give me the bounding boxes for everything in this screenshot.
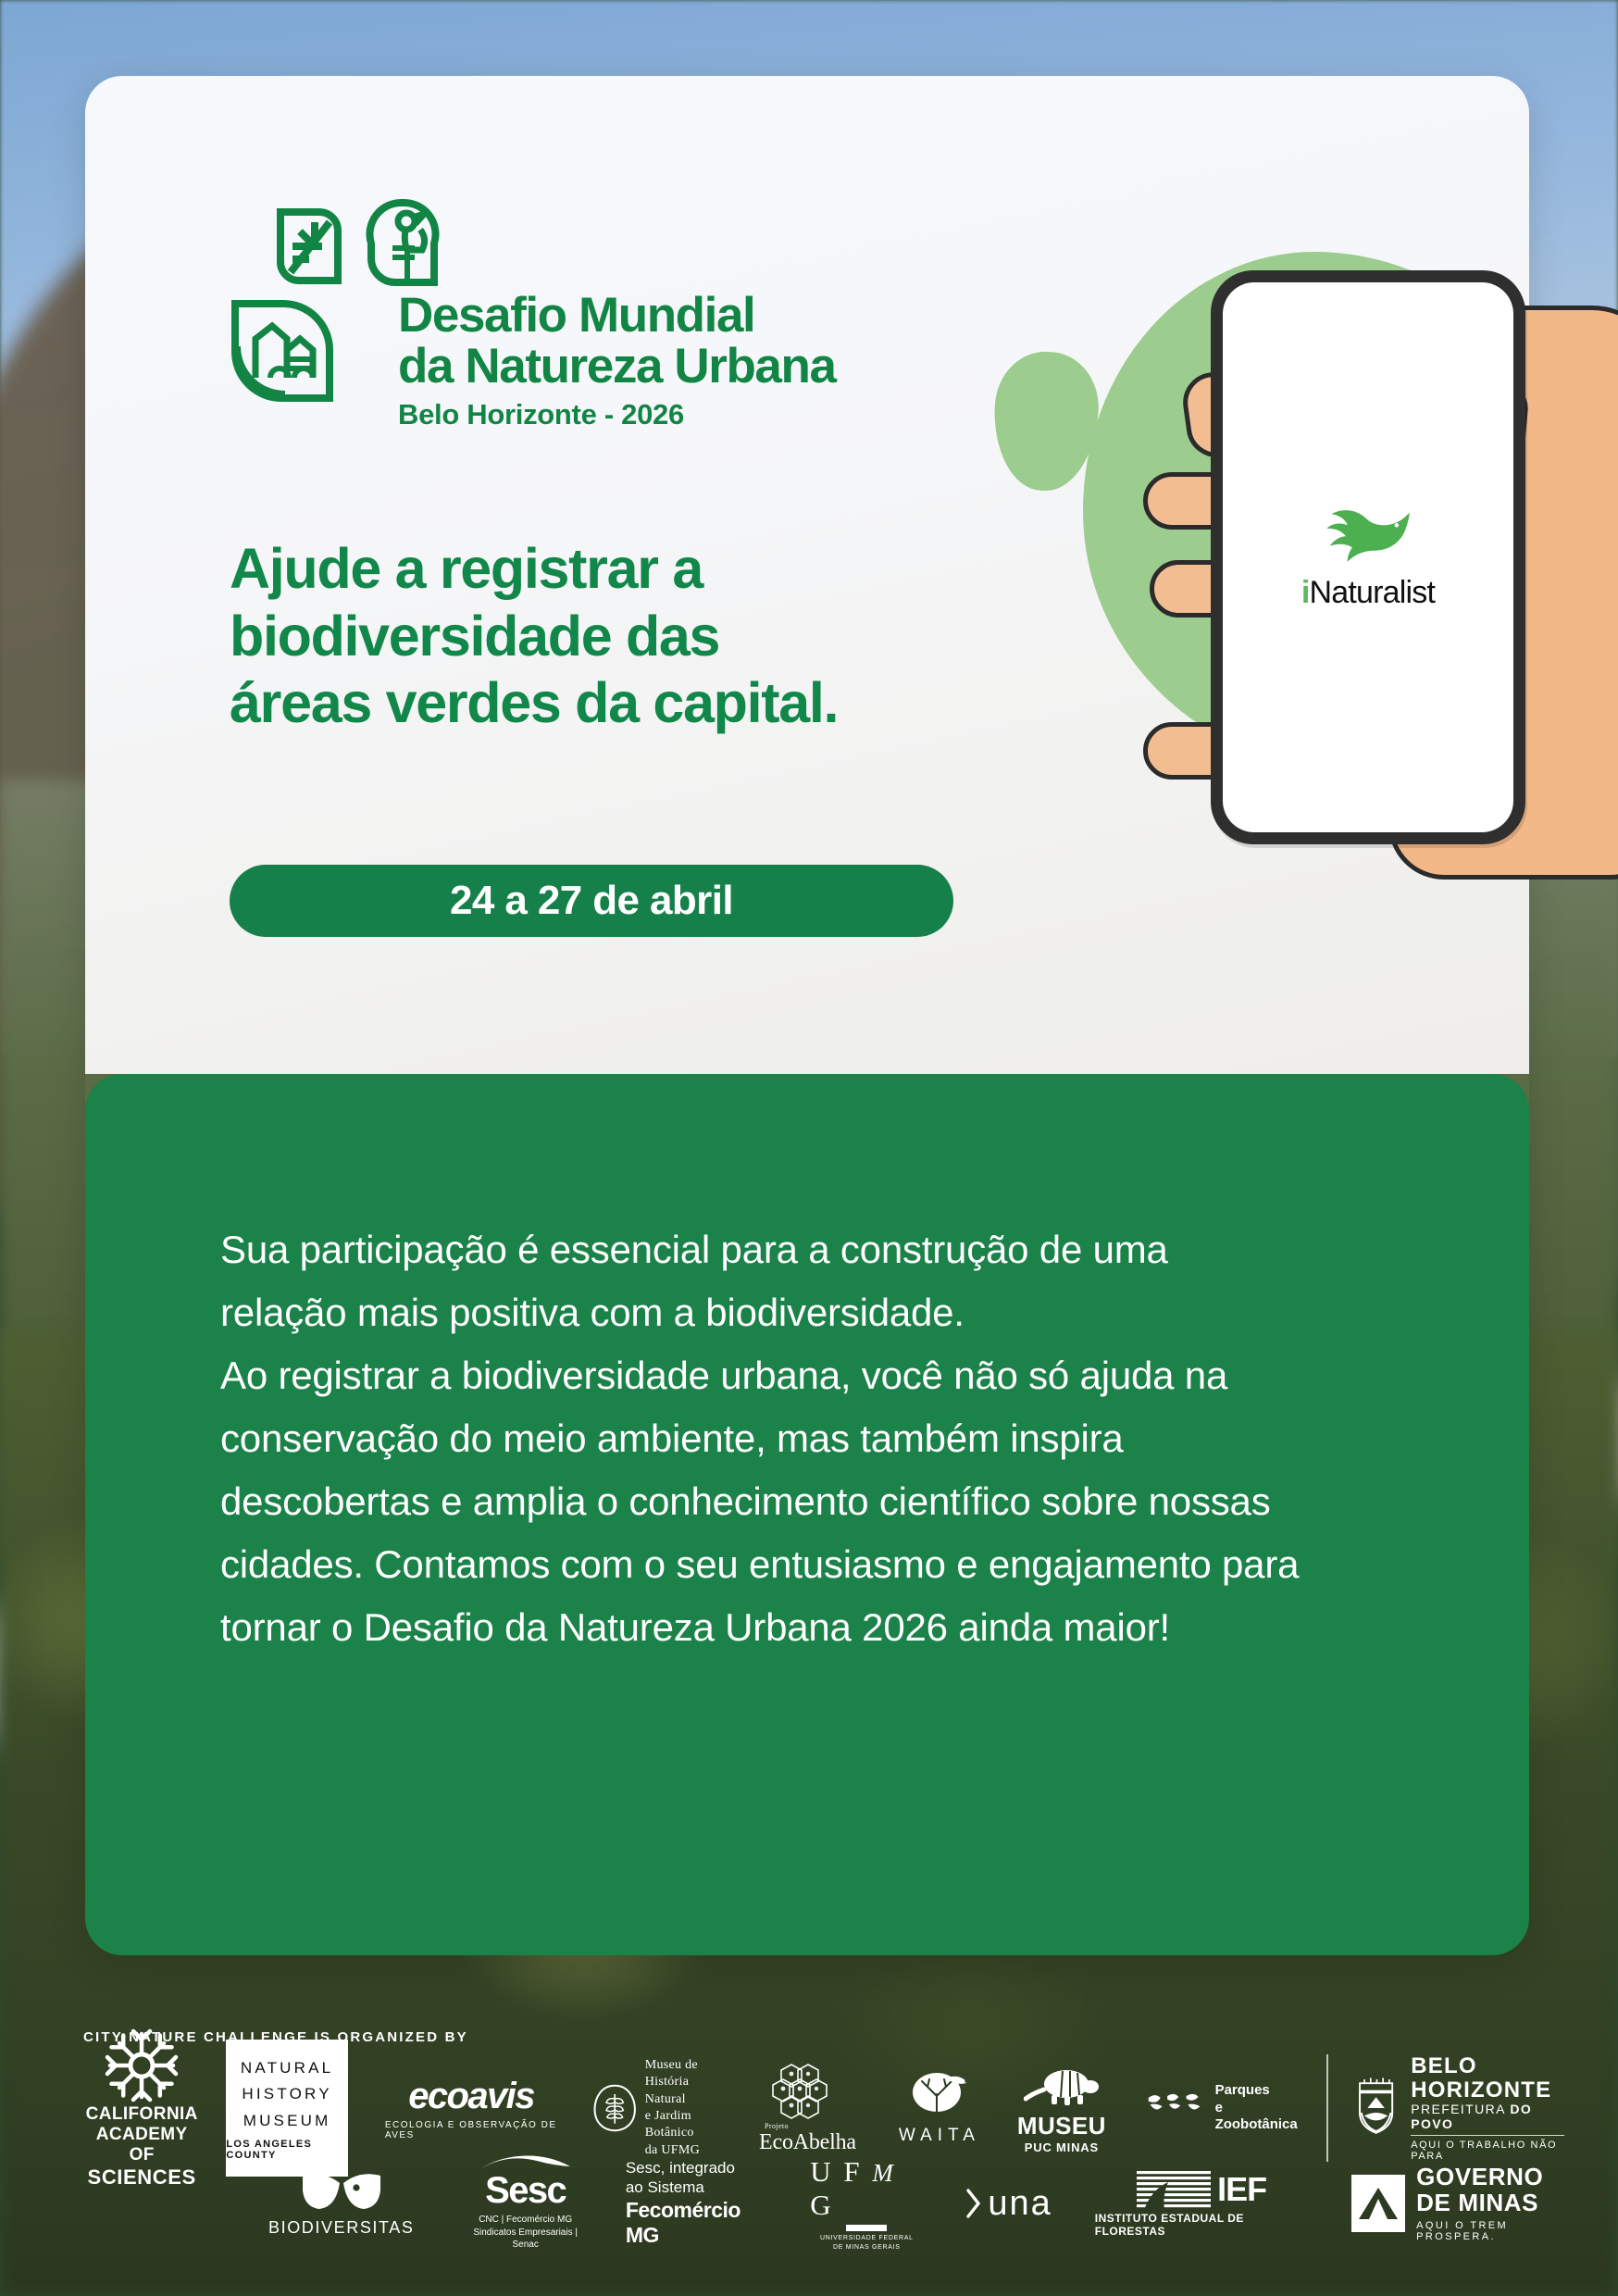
bh-coat-of-arms-icon [1350,2071,1401,2145]
waita-wordmark: WAITA [899,2126,980,2146]
pbh-line-3a: PREFEITURA [1411,2102,1510,2116]
pbh-line-2: HORIZONTE [1411,2078,1564,2102]
cal-academy-line-3: SCIENCES [88,2165,196,2189]
governo-mountain-mark [1351,2175,1406,2232]
cal-academy-line-1: CALIFORNIA [83,2104,200,2125]
event-dates-button[interactable]: 24 a 27 de abril [230,865,953,937]
sesc-sub-2: Sindicatos Empresariais | Senac [463,2227,589,2252]
logo-prefeitura-belo-horizonte: BELO HORIZONTE PREFEITURA DO POVO AQUI O… [1326,2054,1564,2161]
sesc-wordmark: Sesc [485,2170,566,2212]
smartphone-device: iNaturalist [1211,270,1525,844]
brand-subtitle: Belo Horizonte - 2026 [398,398,836,431]
ecoavis-tagline: ECOLOGIA E OBSERVAÇÃO DE AVES [385,2120,557,2140]
logo-ufmg: U F M G UNIVERSIDADE FEDERAL DE MINAS GE… [810,2155,923,2251]
logo-waita: WAITA [899,2070,980,2146]
inaturalist-i: i [1301,575,1310,610]
una-chevron-icon [964,2185,984,2222]
museu-puc-sub: PUC MINAS [1025,2140,1099,2154]
leaf-shield-icon [592,2078,637,2138]
ecoabelha-prefix: Projeto [765,2122,789,2130]
logo-parques-zoobotanica: Parques e Zoobotânica [1145,2082,1302,2134]
mhn-line-4: da UFMG [645,2142,728,2159]
brand-line-1: Desafio Mundial [398,291,836,342]
logo-museu-historia-natural-ufmg: Museu de História Natural e Jardim Botân… [592,2057,728,2160]
tree-bird-icon [905,2070,974,2124]
fecomercio-line-1: Sesc, integrado [626,2159,771,2178]
ufmg-sub-2: DE MINAS GERAIS [820,2243,914,2252]
open-book-leaf-icon [299,2170,384,2215]
phone-screen: iNaturalist [1223,282,1513,832]
ief-sub: INSTITUTO ESTADUAL DE FLORESTAS [1095,2212,1307,2238]
nhm-line-2: HISTORY [242,2081,331,2107]
mhn-line-3: e Jardim Botânico [645,2108,728,2142]
phone-in-hand-illustration: iNaturalist [953,167,1546,907]
ecoavis-wordmark: ecoavis [408,2076,534,2117]
mhn-line-1: Museu de [645,2057,728,2074]
logo-natural-history-museum: NATURAL HISTORY MUSEUM LOS ANGELES COUNT… [226,2040,347,2177]
cal-academy-line-2: ACADEMY OF [83,2125,200,2165]
sesc-sub-1: CNC | Fecomércio MG [463,2214,589,2227]
ief-lines-icon [1135,2169,1213,2210]
ief-wordmark: IEF [1217,2170,1266,2209]
logo-ecoavis: ecoavis ECOLOGIA E OBSERVAÇÃO DE AVES [385,2076,557,2140]
headline-line-1: Ajude a registrar a [230,535,838,603]
logo-ief: IEF INSTITUTO ESTADUAL DE FLORESTAS [1095,2169,1307,2238]
ufmg-u: U F [810,2155,862,2188]
fecomercio-line-2: ao Sistema [626,2178,771,2198]
ecoabelha-name: EcoAbelha [759,2130,856,2155]
mhn-line-2: História Natural [645,2074,728,2108]
logo-museu-puc-minas: MUSEU PUC MINAS [1017,2062,1106,2154]
leaf-icon [274,206,344,287]
body-paragraph: Sua participação é essencial para a cons… [220,1218,1303,1659]
logo-sesc: Sesc CNC | Fecomércio MG Sindicatos Empr… [463,2155,589,2252]
page-title: Ajude a registrar a biodiversidade das á… [230,535,838,737]
brand-lockup: Desafio Mundial da Natureza Urbana Belo … [230,206,836,431]
logo-governo-de-minas: GOVERNO DE MINAS AQUI O TREM PROSPERA. [1351,2165,1583,2241]
birds-icon [1145,2090,1209,2127]
ufmg-m: M [872,2159,896,2187]
brand-line-2: da Natureza Urbana [398,342,836,393]
brand-text: Desafio Mundial da Natureza Urbana Belo … [398,206,836,431]
governo-line-1: GOVERNO [1416,2165,1583,2190]
headline-line-2: biodiversidade das [230,603,838,670]
nhm-line-3: MUSEUM [243,2108,331,2134]
governo-line-2: DE MINAS [1416,2190,1583,2216]
nhm-line-1: NATURAL [241,2055,334,2081]
logo-fecomercio-mg: Sesc, integrado ao Sistema Fecomércio MG [626,2159,771,2247]
museu-puc-wordmark: MUSEU [1017,2112,1106,2140]
una-wordmark: una [988,2184,1052,2224]
inaturalist-rest: Naturalist [1310,575,1436,610]
pbh-line-4: AQUI O TRABALHO NÃO PARA [1411,2135,1564,2162]
ufmg-sub-1: UNIVERSIDADE FEDERAL [820,2234,914,2242]
brand-marks [230,206,389,402]
footer-logo-row-1: CALIFORNIA ACADEMY OF SCIENCES NATURAL H… [83,2057,1564,2159]
mountain-icon [1357,2184,1400,2223]
parques-line-2: e Zoobotânica [1215,2100,1302,2134]
logo-una: una [964,2184,1052,2224]
city-leaf-icon [230,298,335,404]
honeycomb-icon [771,2061,843,2122]
ufmg-g: G [810,2189,833,2221]
organizers-label: CITY NATURE CHALLENGE IS ORGANIZED BY [83,2029,468,2045]
sesc-swoosh-icon [479,2155,572,2170]
logo-california-academy-of-sciences: CALIFORNIA ACADEMY OF SCIENCES [83,2027,200,2190]
footer-logo-row-2: BIODIVERSITAS Sesc CNC | Fecomércio MG S… [268,2159,1583,2248]
governo-line-3: AQUI O TREM PROSPERA. [1416,2220,1583,2242]
inaturalist-bird-icon [1320,505,1416,571]
armadillo-icon [1024,2062,1100,2112]
fecomercio-line-3: Fecomércio MG [626,2198,771,2248]
inaturalist-wordmark: iNaturalist [1301,575,1435,611]
nhm-line-4: LOS ANGELES COUNTY [226,2139,347,2161]
parques-line-1: Parques [1215,2082,1302,2100]
biodiversitas-wordmark: BIODIVERSITAS [268,2218,415,2238]
pbh-line-1: BELO [1411,2054,1564,2078]
logo-biodiversitas: BIODIVERSITAS [268,2170,415,2238]
headline-line-3: áreas verdes da capital. [230,669,838,737]
bird-icon [365,196,441,289]
logo-ecoabelha: Projeto EcoAbelha [759,2061,856,2155]
ufmg-bar [846,2225,887,2231]
